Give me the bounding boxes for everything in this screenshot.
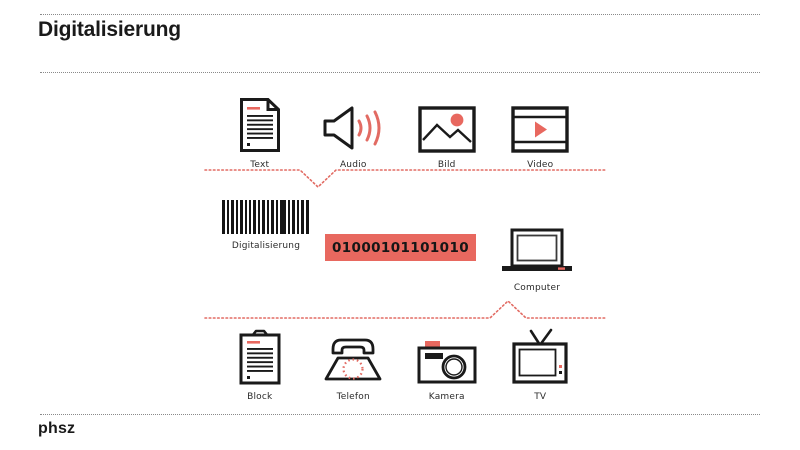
media-item-video[interactable]: Video — [494, 93, 588, 170]
picture-icon — [418, 93, 476, 153]
media-item-audio[interactable]: Audio — [307, 93, 401, 170]
device-item-telefon[interactable]: Telefon — [307, 325, 401, 402]
device-item-label: Telefon — [337, 392, 370, 402]
device-item-label: Kamera — [429, 392, 465, 402]
connector-line-upper — [205, 160, 605, 200]
device-item-label: Block — [247, 392, 272, 402]
laptop-icon — [500, 228, 574, 276]
analog-outputs-row: Block Telefon — [213, 325, 587, 402]
speaker-icon — [322, 93, 384, 153]
divider-top — [40, 14, 760, 15]
device-item-tv[interactable]: TV — [494, 325, 588, 402]
video-frame-icon — [511, 93, 569, 153]
television-icon — [511, 325, 569, 385]
camera-icon — [417, 325, 477, 385]
media-item-text[interactable]: Text — [213, 93, 307, 170]
brand-logo: phsz — [38, 420, 75, 438]
digitisation-computer[interactable]: Computer — [500, 228, 574, 293]
analog-inputs-row: Text Audio — [213, 93, 587, 170]
rotary-phone-icon — [320, 325, 386, 385]
binary-code-badge: 01000101101010 — [325, 234, 476, 261]
digitisation-barcode[interactable]: Digitalisierung — [222, 200, 310, 251]
device-item-kamera[interactable]: Kamera — [400, 325, 494, 402]
page-title: Digitalisierung — [38, 18, 181, 42]
media-item-bild[interactable]: Bild — [400, 93, 494, 170]
binary-code-value: 01000101101010 — [332, 240, 469, 256]
clipboard-icon — [238, 325, 282, 385]
device-item-block[interactable]: Block — [213, 325, 307, 402]
barcode-icon — [222, 200, 310, 234]
barcode-label: Digitalisierung — [232, 241, 300, 251]
divider-footer — [40, 414, 760, 415]
document-icon — [239, 93, 281, 153]
device-item-label: TV — [534, 392, 546, 402]
divider-under-title — [40, 72, 760, 73]
slide-canvas: Digitalisierung — [0, 0, 800, 450]
